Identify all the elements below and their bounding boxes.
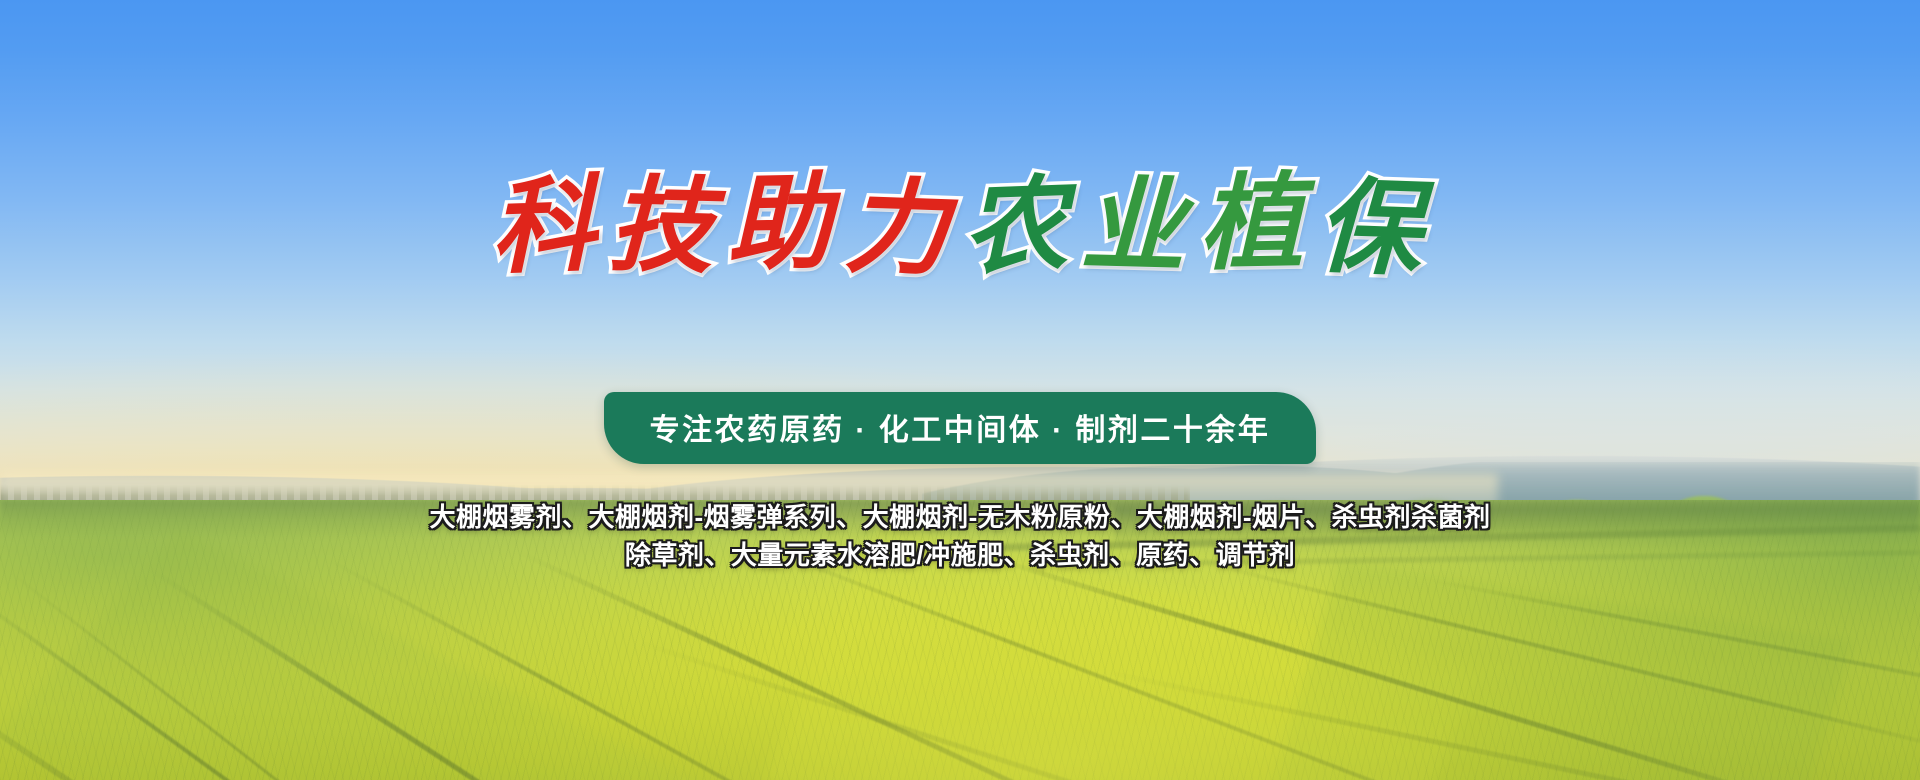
headline-char: 保 [1312, 168, 1434, 289]
banner-content: 科技助力农业植保 专注农药原药 · 化工中间体 · 制剂二十余年 大棚烟雾剂、大… [0, 0, 1920, 780]
tagline-pill-wrapper: 专注农药原药 · 化工中间体 · 制剂二十余年 [0, 392, 1920, 464]
headline-char: 力 [840, 168, 962, 289]
tagline-pill: 专注农药原药 · 化工中间体 · 制剂二十余年 [604, 392, 1317, 464]
headline-char: 科 [486, 166, 608, 287]
headline-char: 助 [723, 164, 843, 283]
headline-char: 植 [1195, 164, 1315, 283]
banner-headline: 科技助力农业植保 [0, 168, 1920, 284]
headline-char: 业 [1077, 166, 1198, 286]
product-line-1: 大棚烟雾剂、大棚烟剂-烟雾弹系列、大棚烟剂-无木粉原粉、大棚烟剂-烟片、杀虫剂杀… [0, 498, 1920, 536]
headline-char: 技 [604, 166, 725, 286]
hero-banner: 科技助力农业植保 专注农药原药 · 化工中间体 · 制剂二十余年 大棚烟雾剂、大… [0, 0, 1920, 780]
headline-char: 农 [958, 166, 1080, 287]
product-line-2: 除草剂、大量元素水溶肥/冲施肥、杀虫剂、原药、调节剂 [0, 536, 1920, 574]
product-category-list: 大棚烟雾剂、大棚烟剂-烟雾弹系列、大棚烟剂-无木粉原粉、大棚烟剂-烟片、杀虫剂杀… [0, 498, 1920, 574]
